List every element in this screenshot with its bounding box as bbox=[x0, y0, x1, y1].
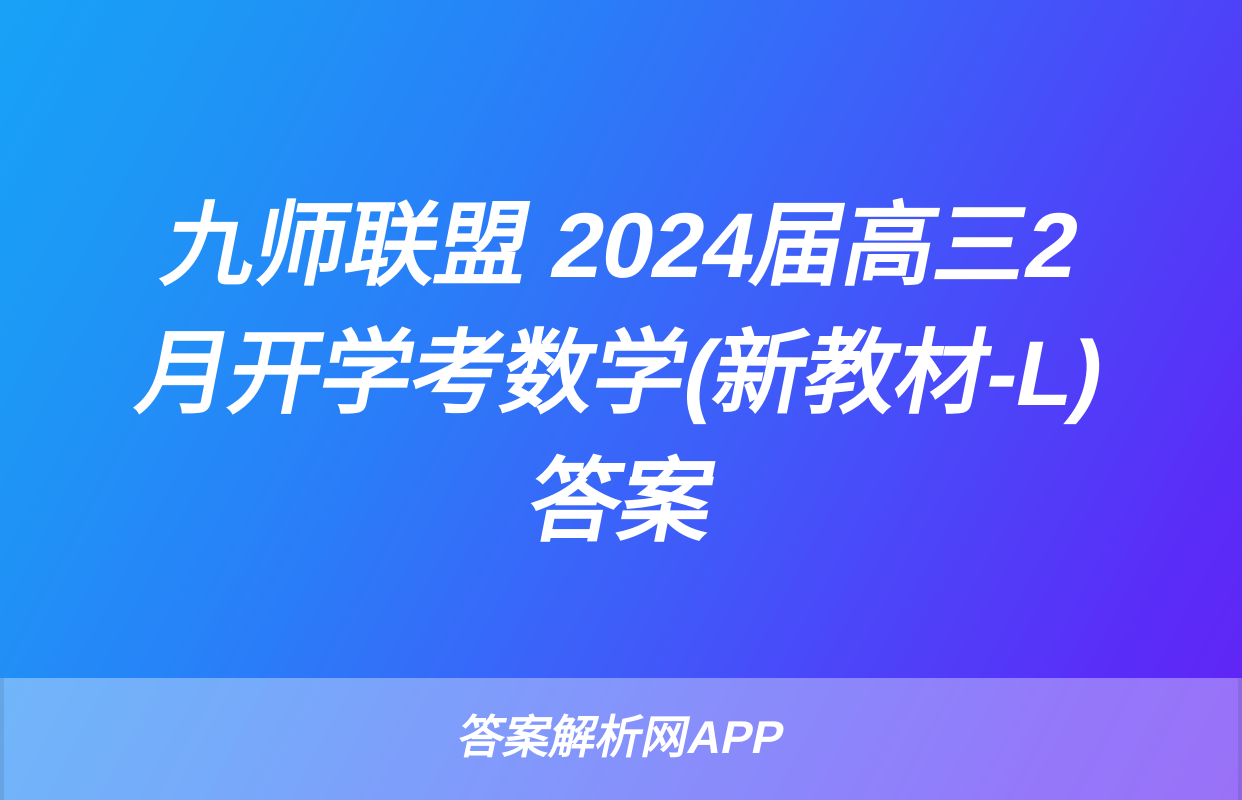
title-line-2: 月开学考数学(新教材-L) bbox=[14, 310, 1229, 438]
title-line-3: 答案 bbox=[14, 438, 1229, 566]
app-watermark: 答案解析网APP bbox=[0, 706, 1242, 768]
poster-canvas: 九师联盟 2024届高三2 月开学考数学(新教材-L) 答案 答案解析网APP bbox=[0, 0, 1242, 800]
poster-title: 九师联盟 2024届高三2 月开学考数学(新教材-L) 答案 bbox=[0, 182, 1242, 566]
app-watermark-label: 答案解析网APP bbox=[452, 706, 790, 768]
title-line-1: 九师联盟 2024届高三2 bbox=[14, 182, 1229, 310]
